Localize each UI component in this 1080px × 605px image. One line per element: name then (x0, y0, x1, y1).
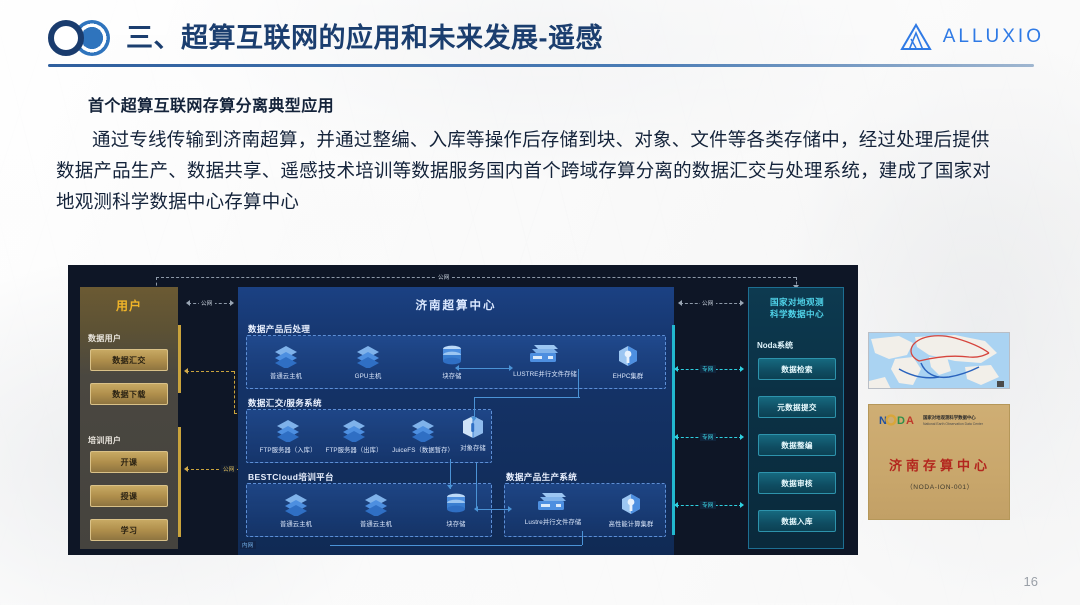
link-arrow-cn1-r (740, 300, 744, 306)
node-ftp-out[interactable]: FTP服务器（出库） (317, 416, 391, 454)
database-cylinder-icon (423, 490, 489, 516)
group-box-production: Lustre并行文件存储 高性能计算集群 (504, 483, 666, 537)
route-arrow-object (471, 417, 477, 421)
user-button-data-download[interactable]: 数据下载 (90, 383, 168, 405)
node-caption: GPU主机 (335, 371, 401, 380)
inner-arrow-2 (509, 365, 513, 371)
link-arrow-cn4-r (740, 502, 744, 508)
plaque-org-cn: 国家对地观测科学数据中心 (923, 415, 976, 420)
jinan-storage-compute-center-plaque: N D A 国家对地观测科学数据中心 National Earth Observ… (868, 404, 1010, 520)
stacked-layers-icon (263, 490, 329, 516)
net-tag-user-low: 公网 (221, 465, 237, 473)
node-lustre-parallel-fs-2[interactable]: Lustre并行文件存储 (511, 488, 595, 526)
node-caption: 普通云主机 (253, 371, 319, 380)
architecture-diagram: 公网 用户 数据用户 数据汇交 数据下载 培训用户 开课 授课 学习 公网 公网… (68, 265, 858, 555)
plaque-code: （NODA-ION-001） (869, 481, 1011, 491)
svg-text:D: D (897, 415, 905, 426)
route-internal-up (582, 531, 583, 545)
link-user-center-mid-v (234, 371, 235, 413)
net-tag-internal: 内网 (240, 541, 256, 549)
inner-link-1 (459, 368, 511, 369)
inner-arrow-1 (455, 365, 459, 371)
noda-button-data-ingest[interactable]: 数据入库 (758, 510, 836, 532)
link-user-center-mid-a (186, 371, 234, 372)
link-arrow-cn2-l (674, 366, 678, 372)
node-caption: FTP服务器（入库） (251, 445, 325, 454)
user-panel-title: 用户 (80, 297, 178, 314)
group-label-bestcloud: BESTCloud培训平台 (248, 471, 334, 483)
route-to-object (474, 397, 475, 419)
link-arrow-right-top (230, 300, 234, 306)
alluxio-triangle-mark-icon (899, 22, 933, 52)
user-panel: 用户 数据用户 数据汇交 数据下载 培训用户 开课 授课 学习 (80, 287, 178, 549)
jinan-center-panel: 济南超算中心 数据产品后处理 普通云主机 (238, 287, 674, 555)
node-block-storage-1[interactable]: 块存储 (419, 342, 485, 380)
node-caption: 普通云主机 (343, 519, 409, 528)
node-caption: LUSTRE并行文件存储 (501, 369, 589, 378)
header-divider (48, 64, 1034, 67)
node-common-cloud-host-1[interactable]: 普通云主机 (253, 342, 319, 380)
stacked-layers-icon (317, 416, 391, 442)
slide-header: 三、超算互联网的应用和未来发展-遥感 ALLUXIO (0, 0, 1080, 76)
file-storage-icon (511, 488, 595, 514)
page-number: 16 (1024, 574, 1038, 589)
link-arrow-left-low (184, 466, 188, 472)
user-button-teach[interactable]: 授课 (90, 485, 168, 507)
noda-logo: N D A 国家对地观测科学数据中心 National Earth Observ… (879, 414, 983, 428)
user-section-label-data: 数据用户 (88, 333, 121, 344)
stacked-layers-icon (335, 342, 401, 368)
route-arrow-prod-r (508, 506, 512, 512)
noda-button-metadata-submit[interactable]: 元数据提交 (758, 396, 836, 418)
jinan-center-title: 济南超算中心 (238, 297, 674, 313)
stacked-layers-icon (251, 416, 325, 442)
node-caption: 普通云主机 (263, 519, 329, 528)
user-section-label-training: 培训用户 (88, 435, 121, 446)
group-label-production: 数据产品生产系统 (506, 471, 577, 483)
route-internal-bottom (330, 545, 582, 546)
cluster-cube-icon (597, 490, 665, 516)
noda-button-data-compile[interactable]: 数据整编 (758, 434, 836, 456)
route-arrow-block (447, 485, 453, 489)
noda-title-line2: 科学数据中心 (749, 308, 845, 320)
node-caption: 块存储 (423, 519, 489, 528)
node-ehpc-cluster[interactable]: EHPC集群 (595, 342, 661, 380)
net-tag-cn-1: 公网 (700, 299, 716, 307)
page-title: 三、超算互联网的应用和未来发展-遥感 (126, 16, 603, 55)
svg-text:A: A (906, 415, 914, 426)
net-tag-cn-3: 专网 (700, 433, 716, 441)
node-caption: Lustre并行文件存储 (511, 517, 595, 526)
net-tag-top: 公网 (436, 273, 452, 281)
net-tag-user-top: 公网 (199, 299, 215, 307)
group-label-data-service: 数据汇交/服务系统 (248, 397, 322, 409)
route-lustre-left (474, 397, 580, 398)
alluxio-brand: ALLUXIO (899, 20, 1044, 54)
body-paragraph: 通过专线传输到济南超算，并通过整编、入库等操作后存储到块、对象、文件等各类存储中… (56, 124, 1008, 217)
node-ftp-in[interactable]: FTP服务器（入库） (251, 416, 325, 454)
node-gpu-host[interactable]: GPU主机 (335, 342, 401, 380)
noda-panel: 国家对地观测 科学数据中心 Noda系统 数据检索 元数据提交 数据整编 数据审… (748, 287, 844, 549)
route-lustre-down (578, 369, 579, 397)
node-common-cloud-host-2[interactable]: 普通云主机 (263, 490, 329, 528)
node-caption: FTP服务器（出库） (317, 445, 391, 454)
file-storage-icon (501, 340, 589, 366)
group-label-post-processing: 数据产品后处理 (248, 323, 310, 335)
net-tag-cn-2: 专网 (700, 365, 716, 373)
group-box-bestcloud: 普通云主机 普通云主机 (246, 483, 492, 537)
user-button-data-submit[interactable]: 数据汇交 (90, 349, 168, 371)
link-arrow-cn3-r (740, 434, 744, 440)
link-arrow-cn2-r (740, 366, 744, 372)
net-tag-cn-4: 专网 (700, 501, 716, 509)
noda-button-data-search[interactable]: 数据检索 (758, 358, 836, 380)
noda-subtitle: Noda系统 (757, 340, 793, 351)
user-button-study[interactable]: 学习 (90, 519, 168, 541)
top-bus-line (156, 277, 796, 278)
noda-button-data-review[interactable]: 数据审核 (758, 472, 836, 494)
world-map-card (868, 332, 1010, 389)
link-arrow-cn4-l (674, 502, 678, 508)
node-caption: 对象存储 (451, 443, 495, 452)
node-lustre-parallel-fs-1[interactable]: LUSTRE并行文件存储 (501, 340, 589, 378)
route-prod-vert (476, 463, 477, 509)
link-arrow-cn3-l (674, 434, 678, 440)
plaque-main-text: 济南存算中心 (869, 455, 1011, 474)
node-common-cloud-host-3[interactable]: 普通云主机 (343, 490, 409, 528)
link-arrow-left-mid (184, 368, 188, 374)
link-arrow-left-top (186, 300, 190, 306)
node-hpc-cluster[interactable]: 高性能计算集群 (597, 490, 665, 528)
database-cylinder-icon (419, 342, 485, 368)
route-production-in (476, 509, 510, 510)
cluster-cube-icon (595, 342, 661, 368)
user-rail-data (178, 325, 181, 393)
node-caption: 高性能计算集群 (597, 519, 665, 528)
noda-logo-icon: N D A (879, 414, 919, 426)
lead-heading: 首个超算互联网存算分离典型应用 (88, 92, 1008, 116)
stacked-layers-icon (253, 342, 319, 368)
user-rail-training (178, 427, 181, 537)
world-map-image-icon (869, 333, 1010, 389)
node-caption: 块存储 (419, 371, 485, 380)
group-box-data-service: FTP服务器（入库） FTP服务器（出库） (246, 409, 492, 463)
noda-wordmark: N D A (879, 414, 919, 428)
noda-panel-title: 国家对地观测 科学数据中心 (749, 296, 845, 320)
noda-title-line1: 国家对地观测 (749, 296, 845, 308)
stacked-layers-icon (343, 490, 409, 516)
node-caption: EHPC集群 (595, 371, 661, 380)
alluxio-wordmark: ALLUXIO (943, 26, 1044, 48)
group-box-post-processing: 普通云主机 GPU主机 (246, 335, 666, 389)
link-arrow-cn1-l (678, 300, 682, 306)
plaque-org-en: National Earth Observation Data Center (923, 422, 983, 426)
user-button-open-course[interactable]: 开课 (90, 451, 168, 473)
double-ring-logo-icon (48, 20, 114, 56)
plaque-org-text: 国家对地观测科学数据中心 National Earth Observation … (923, 415, 983, 427)
